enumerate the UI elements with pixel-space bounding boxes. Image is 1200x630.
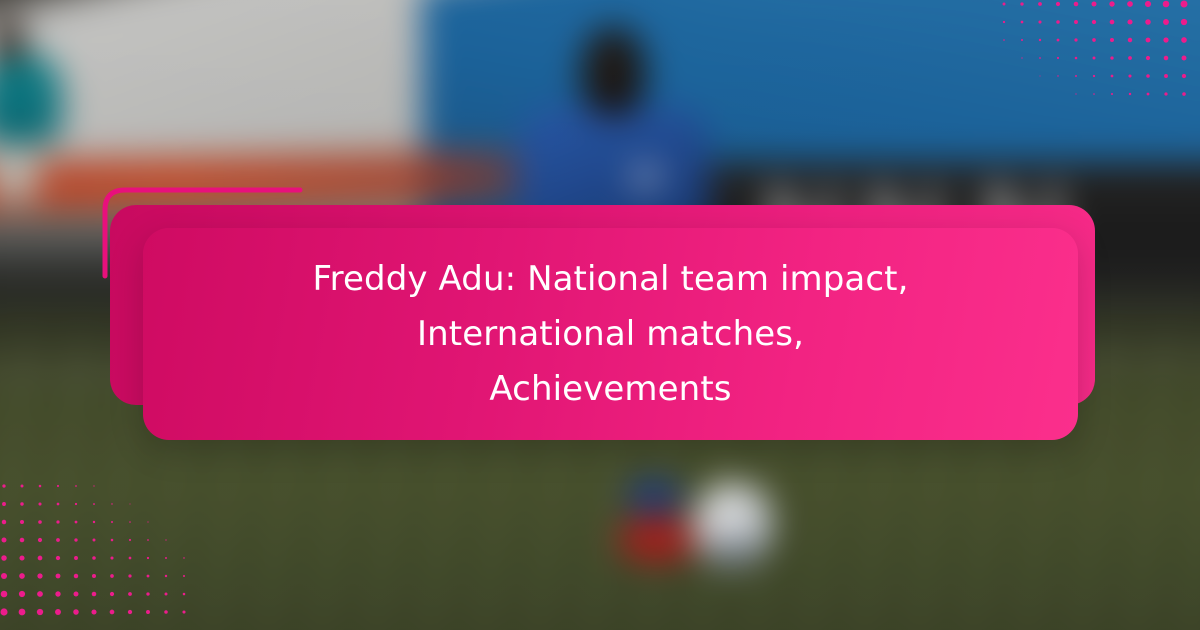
page-title: Freddy Adu: National team impact, Intern… [245, 252, 977, 417]
card-title-container: Freddy Adu: National team impact, Intern… [143, 228, 1078, 440]
share-card-canvas: N N N Freddy Adu: National team i [0, 0, 1200, 630]
